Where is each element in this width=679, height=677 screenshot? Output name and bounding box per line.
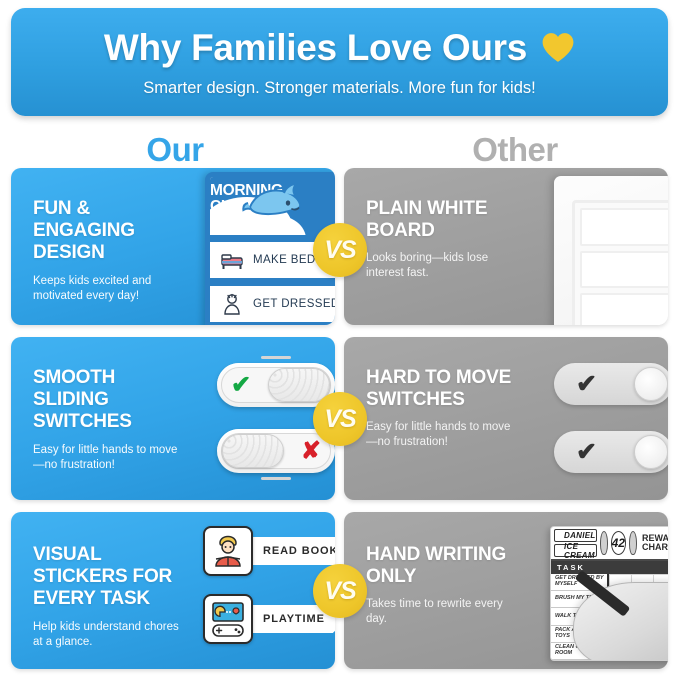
card-title: PLAIN WHITE BOARD [366,198,518,242]
vs-badge-row-1: VS [313,223,367,277]
switch-notch [261,356,291,359]
sliding-switch-off[interactable]: ✘ [217,429,335,473]
chart-header-row: DANIEL ICE CREAM 42 REWARD CHART [551,527,668,561]
bed-icon [220,250,244,270]
task-column-header: TASK [551,561,668,574]
score-value: 42 [611,531,626,555]
vs-badge-label: VS [324,236,355,265]
switch-knob[interactable] [634,367,668,401]
handwritten-reward-chart: DANIEL ICE CREAM 42 REWARD CHART TASK [550,526,668,661]
card-text-block: HARD TO MOVE SWITCHES Easy for little ha… [366,367,518,450]
stiff-switch[interactable]: ✔ [554,363,668,405]
switch-knob[interactable] [268,368,330,402]
name-value: DANIEL [564,531,596,540]
vs-badge-label: VS [324,405,355,434]
card-text-block: PLAIN WHITE BOARD Looks boring—kids lose… [366,198,518,281]
card-text-block: HAND WRITING ONLY Takes time to rewrite … [366,544,518,627]
switch-group: ✔ ✔ [554,363,668,473]
check-icon: ✔ [231,371,251,400]
plain-board-line [580,293,668,325]
check-icon: ✔ [576,437,597,467]
card-visual-handwritten-board: DANIEL ICE CREAM 42 REWARD CHART TASK [520,512,668,669]
card-subtitle: Takes time to rewrite every day. [366,597,518,627]
card-subtitle: Help kids understand chores at a glance. [33,620,185,650]
sticker-banner: READ BOOK [249,537,335,565]
card-visual-plain-board [520,168,668,325]
whale-icon [242,181,308,223]
card-text-block: FUN & ENGAGING DESIGN Keeps kids excited… [33,198,185,304]
card-subtitle: Easy for little hands to move—no frustra… [366,420,518,450]
card-title: VISUAL STICKERS FOR EVERY TASK [33,544,185,611]
card-other-row-2[interactable]: HARD TO MOVE SWITCHES Easy for little ha… [344,337,668,500]
checklist-row-label: MAKE BED [253,254,316,266]
stiff-switch[interactable]: ✔ [554,431,668,473]
kid-face-icon [600,531,608,555]
name-reward-fields: DANIEL ICE CREAM [554,529,597,557]
checklist-row[interactable]: GET DRESSED [210,286,335,322]
card-title: HARD TO MOVE SWITCHES [366,367,518,411]
video-game-icon [203,594,253,644]
card-text-block: VISUAL STICKERS FOR EVERY TASK Help kids… [33,544,185,650]
card-title: SMOOTH SLIDING SWITCHES [33,367,185,434]
card-ours-row-2[interactable]: SMOOTH SLIDING SWITCHES Easy for little … [11,337,335,500]
vs-badge-row-3: VS [313,564,367,618]
checklist-row-label: GET DRESSED [253,298,335,310]
card-other-row-1[interactable]: PLAIN WHITE BOARD Looks boring—kids lose… [344,168,668,325]
card-ours-row-1[interactable]: FUN & ENGAGING DESIGN Keeps kids excited… [11,168,335,325]
card-title: HAND WRITING ONLY [366,544,518,588]
switch-knob[interactable] [634,435,668,469]
cross-icon: ✘ [301,437,321,466]
vs-badge-row-2: VS [313,392,367,446]
card-subtitle: Easy for little hands to move—no frustra… [33,443,185,473]
switch-notch [261,477,291,480]
chart-board-title: REWARD CHART [642,534,668,551]
comparison-grid: FUN & ENGAGING DESIGN Keeps kids excited… [0,0,679,677]
check-icon: ✔ [576,369,597,399]
dressed-icon [220,293,244,315]
sticker-read-book[interactable]: READ BOOK [203,526,335,576]
card-title: FUN & ENGAGING DESIGN [33,198,185,265]
sticker-label: PLAYTIME [263,613,325,625]
reward-value: ICE CREAM [564,542,596,560]
card-visual-stiff-switches: ✔ ✔ [520,337,668,500]
card-ours-row-3[interactable]: VISUAL STICKERS FOR EVERY TASK Help kids… [11,512,335,669]
checklist-board-header: MORNING CHECKLIST [210,177,335,235]
card-subtitle: Looks boring—kids lose interest fast. [366,251,518,281]
reading-boy-icon [203,526,253,576]
reward-field: ICE CREAM [554,544,597,557]
name-field: DANIEL [554,529,597,542]
vs-badge-label: VS [324,577,355,606]
plain-board-line [580,251,668,289]
plain-board-line [580,208,668,246]
sliding-switch-on[interactable]: ✔ [217,363,335,407]
plain-board-inner [572,200,668,325]
card-other-row-3[interactable]: HAND WRITING ONLY Takes time to rewrite … [344,512,668,669]
kid-face-icon [629,531,637,555]
sticker-label: READ BOOK [263,545,335,557]
card-subtitle: Keeps kids excited and motivated every d… [33,274,185,304]
switch-knob[interactable] [222,434,284,468]
plain-white-board [554,176,668,325]
card-text-block: SMOOTH SLIDING SWITCHES Easy for little … [33,367,185,473]
